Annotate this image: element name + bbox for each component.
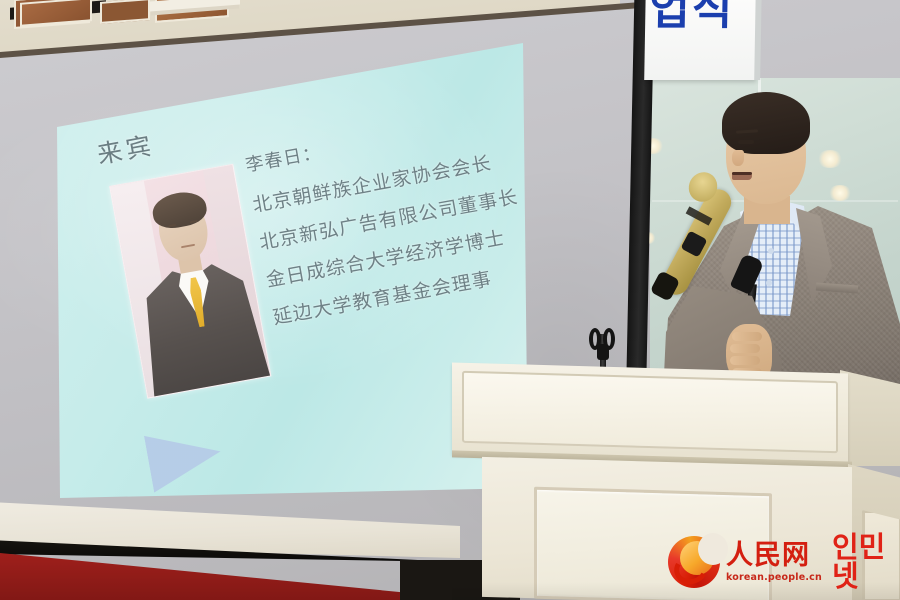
watermark: 人民网 korean.people.cn 인민넷: [668, 532, 896, 592]
photo-scene: 来宾 李春日： 北京朝鲜族企业家协会会长 北京新弘广告有限公司董事长 金日成综合…: [0, 0, 900, 600]
speaker-finger: [730, 356, 760, 365]
speaker-nose: [732, 150, 744, 166]
speaker-shirt-button: [768, 248, 774, 254]
podium-top-inset-molding: [462, 371, 838, 454]
banner-text: 업식: [649, 0, 735, 32]
empty-stand-clip-left: [589, 328, 601, 350]
slide-triangle-decoration: [144, 410, 298, 493]
slide-heading: 来宾: [94, 126, 157, 172]
speaker-eye: [738, 140, 754, 144]
people-daily-logo-icon: [668, 536, 720, 588]
slide-portrait-photo: [109, 164, 271, 399]
speaker-finger: [732, 332, 762, 341]
watermark-url: korean.people.cn: [726, 572, 822, 583]
watermark-kr-text: 인민넷: [832, 533, 896, 591]
speaker-hair: [722, 92, 810, 154]
watermark-cn-text: 人民网: [726, 542, 822, 569]
watermark-cn-block: 人民网 korean.people.cn: [726, 542, 822, 583]
ceiling-wood-panel: [100, 0, 150, 24]
speaker-shirt-button: [766, 280, 772, 286]
event-banner: 업식: [644, 0, 758, 80]
speaker-finger: [730, 344, 760, 353]
speaker-upper-lip: [732, 172, 752, 175]
podium-top-right-face: [840, 370, 900, 466]
empty-stand-clip-right: [603, 328, 615, 350]
